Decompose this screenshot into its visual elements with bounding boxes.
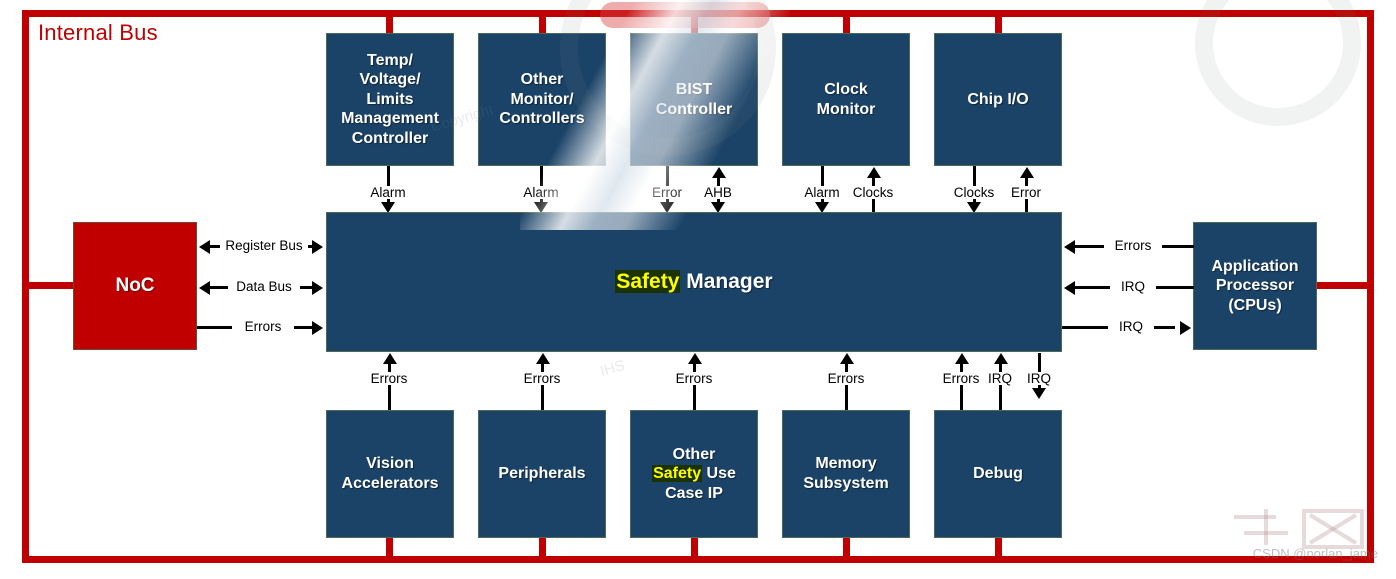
- bus-stub-bottom-5: [995, 538, 1002, 560]
- block-label: BIST Controller: [656, 80, 732, 119]
- bus-stub-bottom-3: [691, 538, 698, 560]
- arrow-up-icon: [994, 353, 1008, 364]
- signal-line: [960, 385, 963, 410]
- arrow-right-icon: [312, 240, 323, 254]
- signal-line: [1025, 199, 1028, 212]
- block-debug[interactable]: Debug: [934, 410, 1062, 538]
- block-peripherals[interactable]: Peripherals: [478, 410, 606, 538]
- signal-label-data-bus: Data Bus: [228, 280, 300, 294]
- signal-label-errors-bottom-2: Errors: [512, 372, 572, 386]
- arrow-left-icon: [199, 281, 210, 295]
- block-vision-accelerators[interactable]: Vision Accelerators: [326, 410, 454, 538]
- watermark-text: IHS: [598, 357, 627, 380]
- block-label: Chip I/O: [967, 90, 1028, 110]
- block-label: Temp/ Voltage/ Limits Management Control…: [341, 51, 439, 149]
- bus-stub-bottom-2: [539, 538, 546, 560]
- arrow-left-icon: [199, 240, 210, 254]
- arrow-up-icon: [712, 167, 726, 178]
- arrow-up-icon: [840, 353, 854, 364]
- bus-stub-top-4: [843, 13, 850, 35]
- watermark-ring: [1195, 0, 1361, 126]
- arrow-left-icon: [1064, 240, 1075, 254]
- signal-label-alarm-2: Alarm: [511, 186, 571, 200]
- bus-stub-bottom-4: [843, 538, 850, 560]
- signal-label-errors-right: Errors: [1104, 239, 1162, 253]
- watermark-glyph-icon: [1226, 505, 1376, 553]
- block-clock-monitor[interactable]: Clock Monitor: [782, 33, 910, 166]
- signal-line: [1038, 353, 1041, 373]
- signal-label-errors-left: Errors: [232, 320, 294, 334]
- arrow-up-icon: [867, 167, 881, 178]
- bus-stub-right: [1315, 282, 1371, 289]
- arrow-up-icon: [688, 353, 702, 364]
- block-label: Memory Subsystem: [803, 454, 888, 493]
- signal-label-irq-bottom-1: IRQ: [980, 372, 1020, 386]
- block-label: Other Monitor/ Controllers: [499, 70, 584, 129]
- signal-label-error-1: Error: [640, 186, 694, 200]
- block-temp-voltage-limits-management-controller[interactable]: Temp/ Voltage/ Limits Management Control…: [326, 33, 454, 166]
- signal-line: [999, 385, 1002, 410]
- bus-stub-top-1: [386, 13, 393, 35]
- signal-label-irq-right-2: IRQ: [1108, 320, 1154, 334]
- arrow-left-icon: [1064, 281, 1075, 295]
- bus-stub-left: [25, 282, 75, 289]
- arrow-up-icon: [536, 353, 550, 364]
- safety-manager-label: Safety Manager: [615, 269, 772, 295]
- signal-line: [388, 385, 391, 410]
- safety-highlight: Safety: [615, 270, 680, 293]
- block-safety-manager[interactable]: Safety Manager: [326, 212, 1062, 352]
- arrow-up-icon: [1020, 167, 1034, 178]
- signal-line: [541, 385, 544, 410]
- signal-label-register-bus: Register Bus: [220, 239, 308, 253]
- block-label: NoC: [115, 274, 154, 297]
- internal-bus-label: Internal Bus: [38, 20, 158, 46]
- block-label: Application Processor (CPUs): [1211, 257, 1298, 316]
- block-label: Peripherals: [498, 464, 585, 484]
- bus-stub-top-5: [995, 13, 1002, 35]
- block-other-safety-use-case-ip[interactable]: Other Safety Use Case IP: [630, 410, 758, 538]
- arrow-down-icon: [1032, 388, 1046, 399]
- block-memory-subsystem[interactable]: Memory Subsystem: [782, 410, 910, 538]
- signal-line: [693, 385, 696, 410]
- block-chip-io[interactable]: Chip I/O: [934, 33, 1062, 166]
- block-application-processor[interactable]: Application Processor (CPUs): [1193, 222, 1317, 350]
- signal-label-errors-bottom-4: Errors: [816, 372, 876, 386]
- block-bist-controller[interactable]: BIST Controller: [630, 33, 758, 166]
- block-noc[interactable]: NoC: [73, 222, 197, 350]
- arrow-up-icon: [955, 353, 969, 364]
- label-pre: Other: [673, 446, 716, 463]
- signal-label-errors-bottom-1: Errors: [359, 372, 419, 386]
- signal-label-irq-bottom-2: IRQ: [1019, 372, 1059, 386]
- signal-label-alarm-1: Alarm: [358, 186, 418, 200]
- diagram-canvas: Internal Bus Temp/ Voltage/ Limits Manag…: [0, 0, 1396, 579]
- signal-line: [872, 199, 875, 212]
- signal-label-clocks-1: Clocks: [843, 186, 903, 200]
- bus-stub-top-3: [691, 13, 698, 35]
- arrow-right-icon: [312, 321, 323, 335]
- watermark-logo: [1226, 505, 1376, 553]
- signal-label-ahb: AHB: [692, 186, 744, 200]
- signal-line: [845, 385, 848, 410]
- safety-manager-rest: Manager: [680, 270, 772, 293]
- signal-label-error-2: Error: [999, 186, 1053, 200]
- signal-label-errors-bottom-3: Errors: [664, 372, 724, 386]
- signal-label-irq-right-1: IRQ: [1110, 280, 1156, 294]
- block-label: Debug: [973, 464, 1023, 484]
- bus-stub-bottom-1: [386, 538, 393, 560]
- bus-stub-top-2: [539, 13, 546, 35]
- block-label: Vision Accelerators: [342, 454, 439, 493]
- block-label: Other Safety Use Case IP: [652, 445, 736, 504]
- arrow-right-icon: [312, 281, 323, 295]
- safety-highlight: Safety: [652, 465, 702, 482]
- arrow-up-icon: [383, 353, 397, 364]
- block-label: Clock Monitor: [817, 80, 876, 119]
- block-other-monitor-controllers[interactable]: Other Monitor/ Controllers: [478, 33, 606, 166]
- signal-label-clocks-2: Clocks: [944, 186, 1004, 200]
- arrow-right-icon: [1180, 321, 1191, 335]
- watermark-csdn-text: CSDN @norlan_jame: [1253, 546, 1378, 561]
- watermark-red-bar: [600, 2, 770, 28]
